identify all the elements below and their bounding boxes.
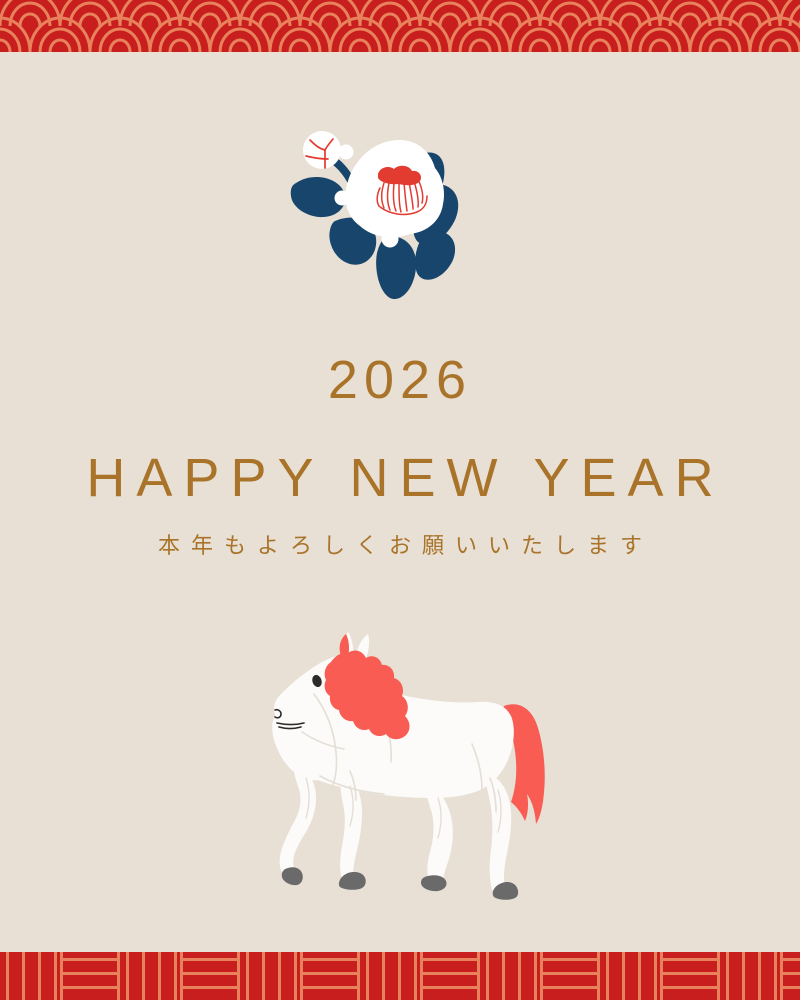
japanese-message-label: 本年もよろしくお願いいたします [0,532,800,562]
happy-new-year-label: HAPPY NEW YEAR [0,448,800,508]
bottom-border-lattice [0,952,800,1000]
camellia-flower-icon [280,128,520,303]
year-label: 2026 [0,352,800,410]
greeting-text-block: 2026 HAPPY NEW YEAR 本年もよろしくお願いいたします [0,352,800,562]
top-border-seigaiha [0,0,800,52]
white-horse-illustration [228,628,584,920]
new-year-card: 2026 HAPPY NEW YEAR 本年もよろしくお願いいたします [0,0,800,1000]
